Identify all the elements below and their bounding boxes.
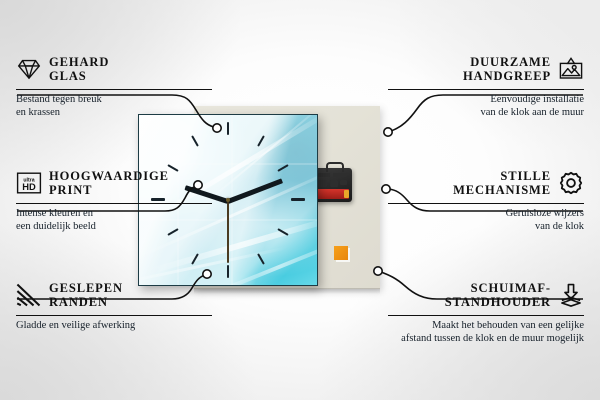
feature-geslepen-randen[interactable]: GESLEPEN RANDEN Gladde en veilige afwerk… (16, 278, 212, 333)
feature-description: Eenvoudige installatie van de klok aan d… (388, 94, 584, 119)
feature-hoogwaardige-print[interactable]: ultra HD HOOGWAARDIGE PRINT Intense kleu… (16, 166, 212, 233)
movement-vent (330, 180, 338, 187)
feature-header: ultra HD HOOGWAARDIGE PRINT (16, 166, 212, 200)
clock-movement (314, 168, 352, 202)
picture-frame-icon (558, 56, 584, 82)
feature-description: Geruisloze wijzers van de klok (388, 208, 584, 233)
feature-duurzame-handgreep[interactable]: DUURZAME HANDGREEP Eenvoudige installati… (388, 52, 584, 119)
divider (388, 315, 584, 316)
feature-gehard-glas[interactable]: GEHARD GLAS Bestand tegen breuk en krass… (16, 52, 212, 119)
feature-description: Intense kleuren en een duidelijk beeld (16, 208, 212, 233)
battery-terminal (344, 190, 349, 198)
second-hand (227, 201, 229, 263)
divider (16, 203, 212, 204)
feature-title: GESLEPEN RANDEN (49, 281, 123, 309)
infographic-canvas: GEHARD GLAS Bestand tegen breuk en krass… (0, 0, 600, 400)
leader-endpoint-handle (384, 128, 392, 136)
movement-vent (318, 173, 330, 177)
feature-description: Maakt het behouden van een gelijke afsta… (388, 320, 584, 345)
divider (388, 89, 584, 90)
diamond-icon (16, 56, 42, 82)
hour-marker-6 (227, 265, 229, 278)
feature-header: SCHUIMAF- STANDHOUDER (388, 278, 584, 312)
spacer-pad-icon (558, 282, 584, 308)
clock-center-pin (226, 198, 230, 202)
ultra-hd-icon-bottom-label: HD (22, 181, 36, 192)
divider (16, 315, 212, 316)
beveled-edges-icon (16, 282, 42, 308)
feature-title: STILLE MECHANISME (453, 169, 551, 197)
feature-schuimafstandhouder[interactable]: SCHUIMAF- STANDHOUDER Maakt het behouden… (388, 278, 584, 345)
movement-hanger (326, 162, 344, 172)
movement-vent (340, 180, 347, 185)
feature-header: GESLEPEN RANDEN (16, 278, 212, 312)
feature-description: Bestand tegen breuk en krassen (16, 94, 212, 119)
hour-marker-12 (227, 122, 229, 135)
divider (16, 89, 212, 90)
ultra-hd-icon: ultra HD (16, 170, 42, 196)
feature-title: HOOGWAARDIGE PRINT (49, 169, 169, 197)
feature-title: SCHUIMAF- STANDHOUDER (445, 281, 551, 309)
feature-title: DUURZAME HANDGREEP (463, 55, 551, 83)
foam-spacer (334, 246, 348, 260)
hour-marker-3 (291, 198, 305, 201)
divider (388, 203, 584, 204)
feature-header: GEHARD GLAS (16, 52, 212, 86)
feature-header: STILLE MECHANISME (388, 166, 584, 200)
artwork-seam (139, 163, 317, 165)
feature-stille-mechanisme[interactable]: STILLE MECHANISME Geruisloze wijzers van… (388, 166, 584, 233)
feature-header: DUURZAME HANDGREEP (388, 52, 584, 86)
movement-vent (333, 173, 347, 177)
movement-vent (318, 180, 327, 187)
feature-description: Gladde en veilige afwerking (16, 320, 212, 333)
gear-icon (558, 170, 584, 196)
feature-title: GEHARD GLAS (49, 55, 109, 83)
